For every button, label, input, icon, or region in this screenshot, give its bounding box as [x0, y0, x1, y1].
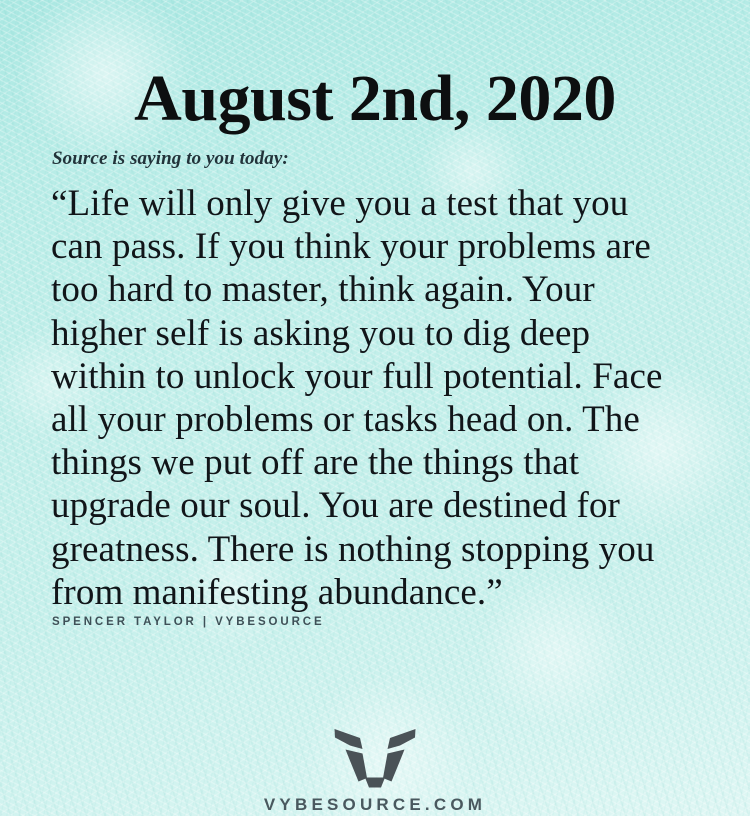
quote-card: August 2nd, 2020 Source is saying to you… — [0, 0, 750, 816]
quote-body: “Life will only give you a test that you… — [51, 182, 719, 614]
quote-line: “Life will only give you a test that you — [51, 182, 719, 225]
kicker-text: Source is saying to you today: — [52, 148, 289, 170]
quote-line: greatness. There is nothing stopping you — [51, 528, 719, 571]
quote-line: can pass. If you think your problems are — [51, 225, 719, 268]
quote-line: higher self is asking you to dig deep — [51, 312, 719, 355]
page-title: August 2nd, 2020 — [0, 66, 750, 132]
quote-line: things we put off are the things that — [51, 441, 719, 484]
site-url-label: VYBESOURCE.COM — [0, 795, 750, 815]
quote-attribution: SPENCER TAYLOR | VYBESOURCE — [52, 616, 325, 628]
bull-v-logo-glyph — [332, 726, 418, 788]
quote-line: upgrade our soul. You are destined for — [51, 484, 719, 527]
vybesource-logo-icon — [332, 726, 418, 788]
quote-line: within to unlock your full potential. Fa… — [51, 355, 719, 398]
quote-line: too hard to master, think again. Your — [51, 268, 719, 311]
quote-line: from manifesting abundance.” — [51, 571, 719, 614]
quote-line: all your problems or tasks head on. The — [51, 398, 719, 441]
